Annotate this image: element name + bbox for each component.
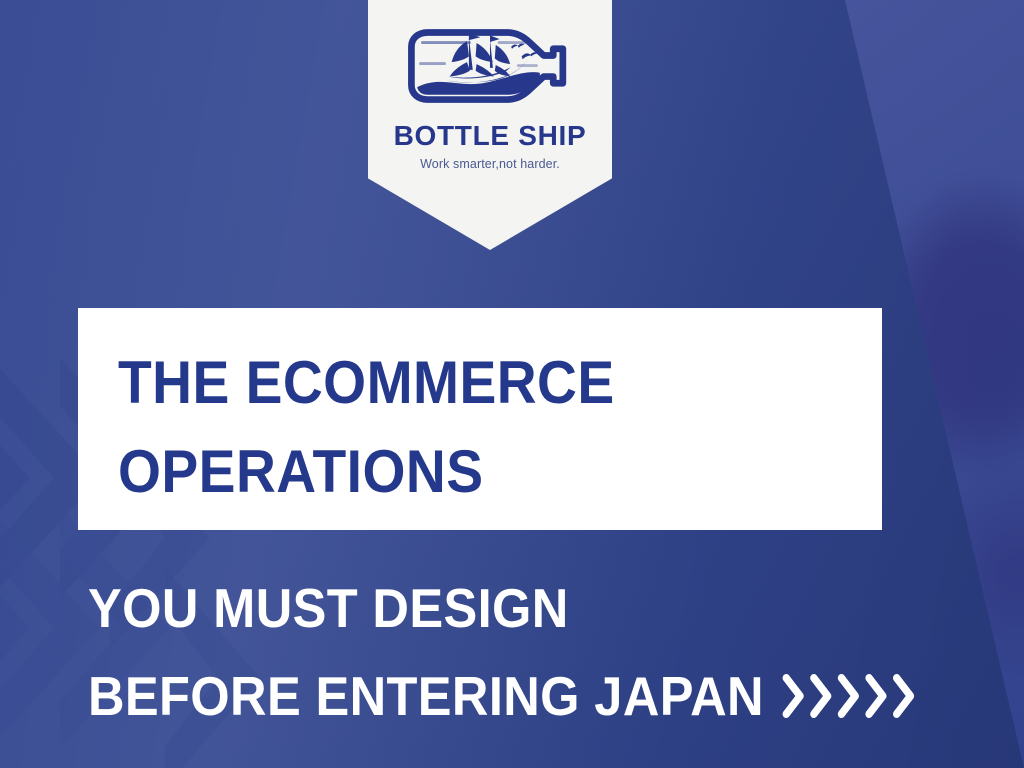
ship-in-bottle-icon xyxy=(392,20,588,112)
chevron-right-icon-group xyxy=(780,673,916,719)
chevron-right-icon xyxy=(891,673,917,719)
chevron-right-icon xyxy=(836,673,862,719)
subheadline-line-1-text: YOU MUST DESIGN xyxy=(88,564,569,652)
chevron-right-icon xyxy=(780,673,806,719)
chevron-right-icon xyxy=(808,673,834,719)
logo-tagline: Work smarter,not harder. xyxy=(420,157,560,171)
headline-card: THE ECOMMERCE OPERATIONS xyxy=(78,308,882,530)
chevron-right-icon xyxy=(863,673,889,719)
subheadline-line-1: YOU MUST DESIGN xyxy=(88,564,944,652)
subheadline-line-2-text: BEFORE ENTERING JAPAN xyxy=(88,652,764,740)
logo-wordmark: BOTTLE SHIP xyxy=(394,122,587,150)
subheadline-line-2: BEFORE ENTERING JAPAN xyxy=(88,652,944,740)
subheadline: YOU MUST DESIGN BEFORE ENTERING JAPAN xyxy=(88,564,1018,740)
headline-line-1: THE ECOMMERCE xyxy=(118,338,821,427)
headline-line-2: OPERATIONS xyxy=(118,427,821,516)
promo-banner: BOTTLE SHIP Work smarter,not harder. THE… xyxy=(0,0,1024,768)
